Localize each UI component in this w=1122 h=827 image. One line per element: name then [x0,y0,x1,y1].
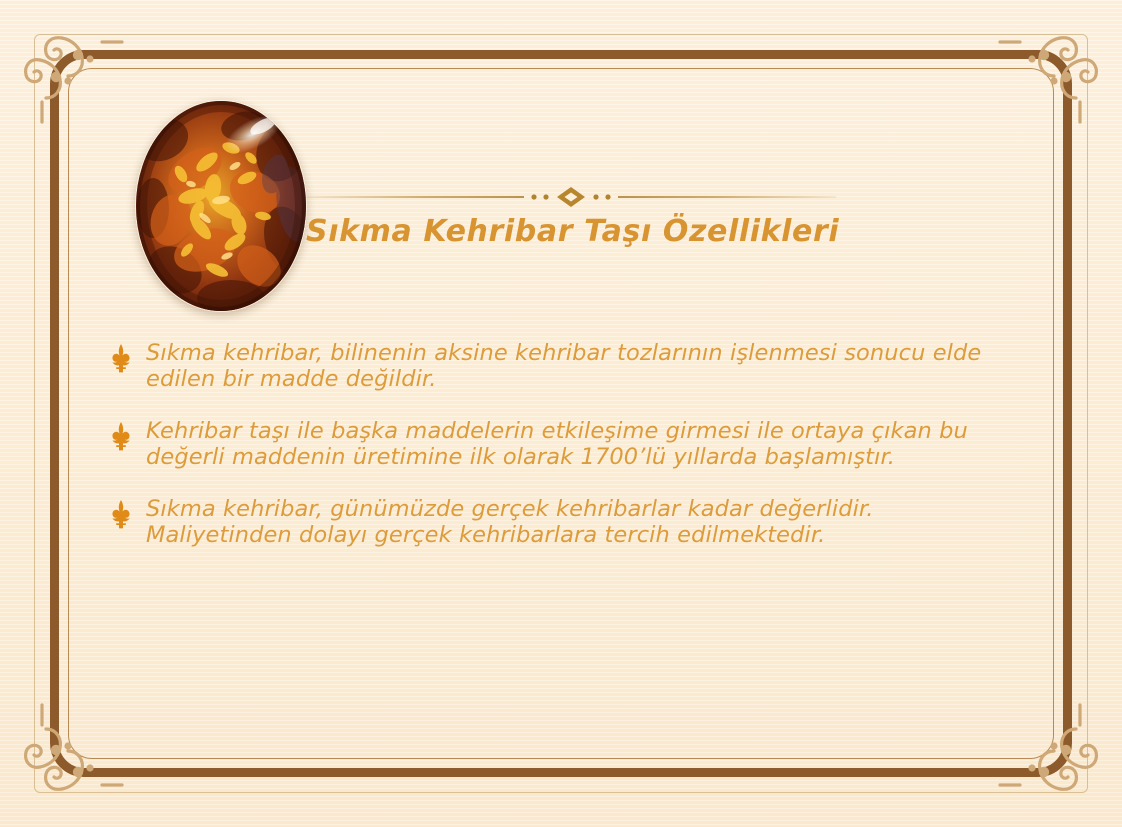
fleur-de-lis-icon [108,421,134,451]
list-item-text: Sıkma kehribar, bilinenin aksine kehriba… [146,340,1022,392]
title-block: Sıkma Kehribar Taşı Özellikleri [300,186,1000,249]
fleur-de-lis-icon [108,499,134,529]
features-list: Sıkma kehribar, bilinenin aksine kehriba… [106,340,1022,549]
diamond-divider-ornament [306,186,836,208]
list-item: Kehribar taşı ile başka maddelerin etkil… [106,418,1022,470]
amber-stone-image [135,100,307,312]
header-section: Sıkma Kehribar Taşı Özellikleri [0,0,1122,330]
list-item: Sıkma kehribar, bilinenin aksine kehriba… [106,340,1022,392]
certificate-page: Sıkma Kehribar Taşı Özellikleri Sıkma ke… [0,0,1122,827]
corner-scroll-flourish-icon [14,693,134,813]
list-item-text: Kehribar taşı ile başka maddelerin etkil… [146,418,1022,470]
fleur-de-lis-icon [108,343,134,373]
corner-scroll-flourish-icon [988,693,1108,813]
page-title: Sıkma Kehribar Taşı Özellikleri [306,214,1000,249]
list-item-text: Sıkma kehribar, günümüzde gerçek kehriba… [146,496,1022,548]
amber-stone-oval [135,100,307,312]
list-item: Sıkma kehribar, günümüzde gerçek kehriba… [106,496,1022,548]
